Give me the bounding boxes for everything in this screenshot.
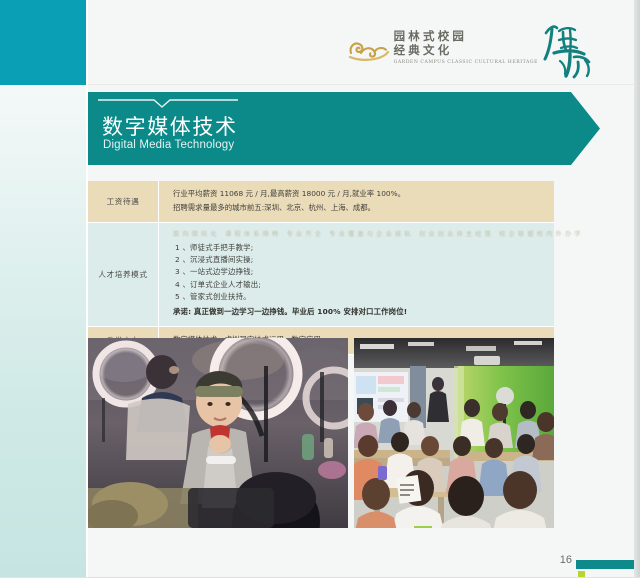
list-item: 5 、管家式创业扶持。: [175, 291, 584, 303]
brand-logo: 园林式校园 经典文化 GARDEN CAMPUS CLASSIC CULTURA…: [348, 19, 598, 81]
table-row: 人才培养模式 面向国际化 课程体系顺畅 专业齐全 专业覆盖与企业接轨 创业创业自…: [88, 223, 554, 327]
page-title: 数字媒体技术: [102, 111, 238, 141]
brand-line2: 经典文化: [394, 43, 453, 57]
faded-overlay-text: 面向国际化 课程体系顺畅 专业齐全 专业覆盖与企业接轨 创业创业自主经营 校企联…: [173, 230, 584, 239]
sidebar-accent-block: [0, 0, 86, 85]
classroom-training-photo: [354, 338, 554, 528]
livestream-studio-photo: [88, 338, 348, 528]
row-label-salary: 工资待遇: [88, 181, 158, 222]
training-list: 1 、师徒式手把手教学; 2 、沉浸式直播间实操; 3 、一站式边学边挣钱; 4…: [175, 242, 584, 303]
brand-wordmark: 园林式校园 经典文化 GARDEN CAMPUS CLASSIC CULTURA…: [394, 29, 538, 65]
calligraphy-chuancheng-icon: [540, 19, 598, 81]
brand-line1: 园林式校园: [394, 29, 468, 43]
photo-strip: [88, 338, 554, 528]
info-table: 工资待遇 行业平均薪资 11068 元 / 月,最高薪资 18000 元 / 月…: [88, 181, 554, 355]
row-label-training: 人才培养模式: [88, 223, 158, 326]
salary-line-2: 招聘需求量最多的城市前五:深圳、北京、杭州、上海、成都。: [173, 202, 544, 215]
page-subtitle: Digital Media Technology: [103, 139, 234, 151]
table-row: 工资待遇 行业平均薪资 11068 元 / 月,最高薪资 18000 元 / 月…: [88, 181, 554, 223]
promise-text: 承诺: 真正做到一边学习一边挣钱。毕业后 100% 安排对口工作岗位!: [173, 306, 584, 319]
cloud-swirl-icon: [348, 31, 390, 65]
line-notch-decoration-icon: [98, 98, 238, 110]
list-item: 4 、订单式企业人才输出;: [175, 279, 584, 291]
page-root: 园林式校园 经典文化 GARDEN CAMPUS CLASSIC CULTURA…: [0, 0, 640, 584]
list-item: 1 、师徒式手把手教学;: [175, 242, 584, 254]
left-sidebar: [0, 0, 86, 577]
row-body-salary: 行业平均薪资 11068 元 / 月,最高薪资 18000 元 / 月,就业率 …: [158, 181, 554, 222]
page-number: 16: [560, 554, 572, 566]
page-bottom-edge: [0, 577, 640, 584]
header-rule: [88, 84, 634, 85]
page-right-edge: [634, 0, 640, 584]
list-item: 2 、沉浸式直播间实操;: [175, 254, 584, 266]
page-footer: 16: [560, 558, 634, 570]
brand-english: GARDEN CAMPUS CLASSIC CULTURAL HERITAGE: [394, 60, 538, 65]
list-item: 3 、一站式边学边挣钱;: [175, 266, 584, 278]
footer-bar: [576, 560, 634, 569]
salary-line-1: 行业平均薪资 11068 元 / 月,最高薪资 18000 元 / 月,就业率 …: [173, 188, 544, 201]
section-title-banner: 数字媒体技术 Digital Media Technology: [88, 92, 600, 165]
row-body-training: 面向国际化 课程体系顺畅 专业齐全 专业覆盖与企业接轨 创业创业自主经营 校企联…: [158, 223, 594, 326]
